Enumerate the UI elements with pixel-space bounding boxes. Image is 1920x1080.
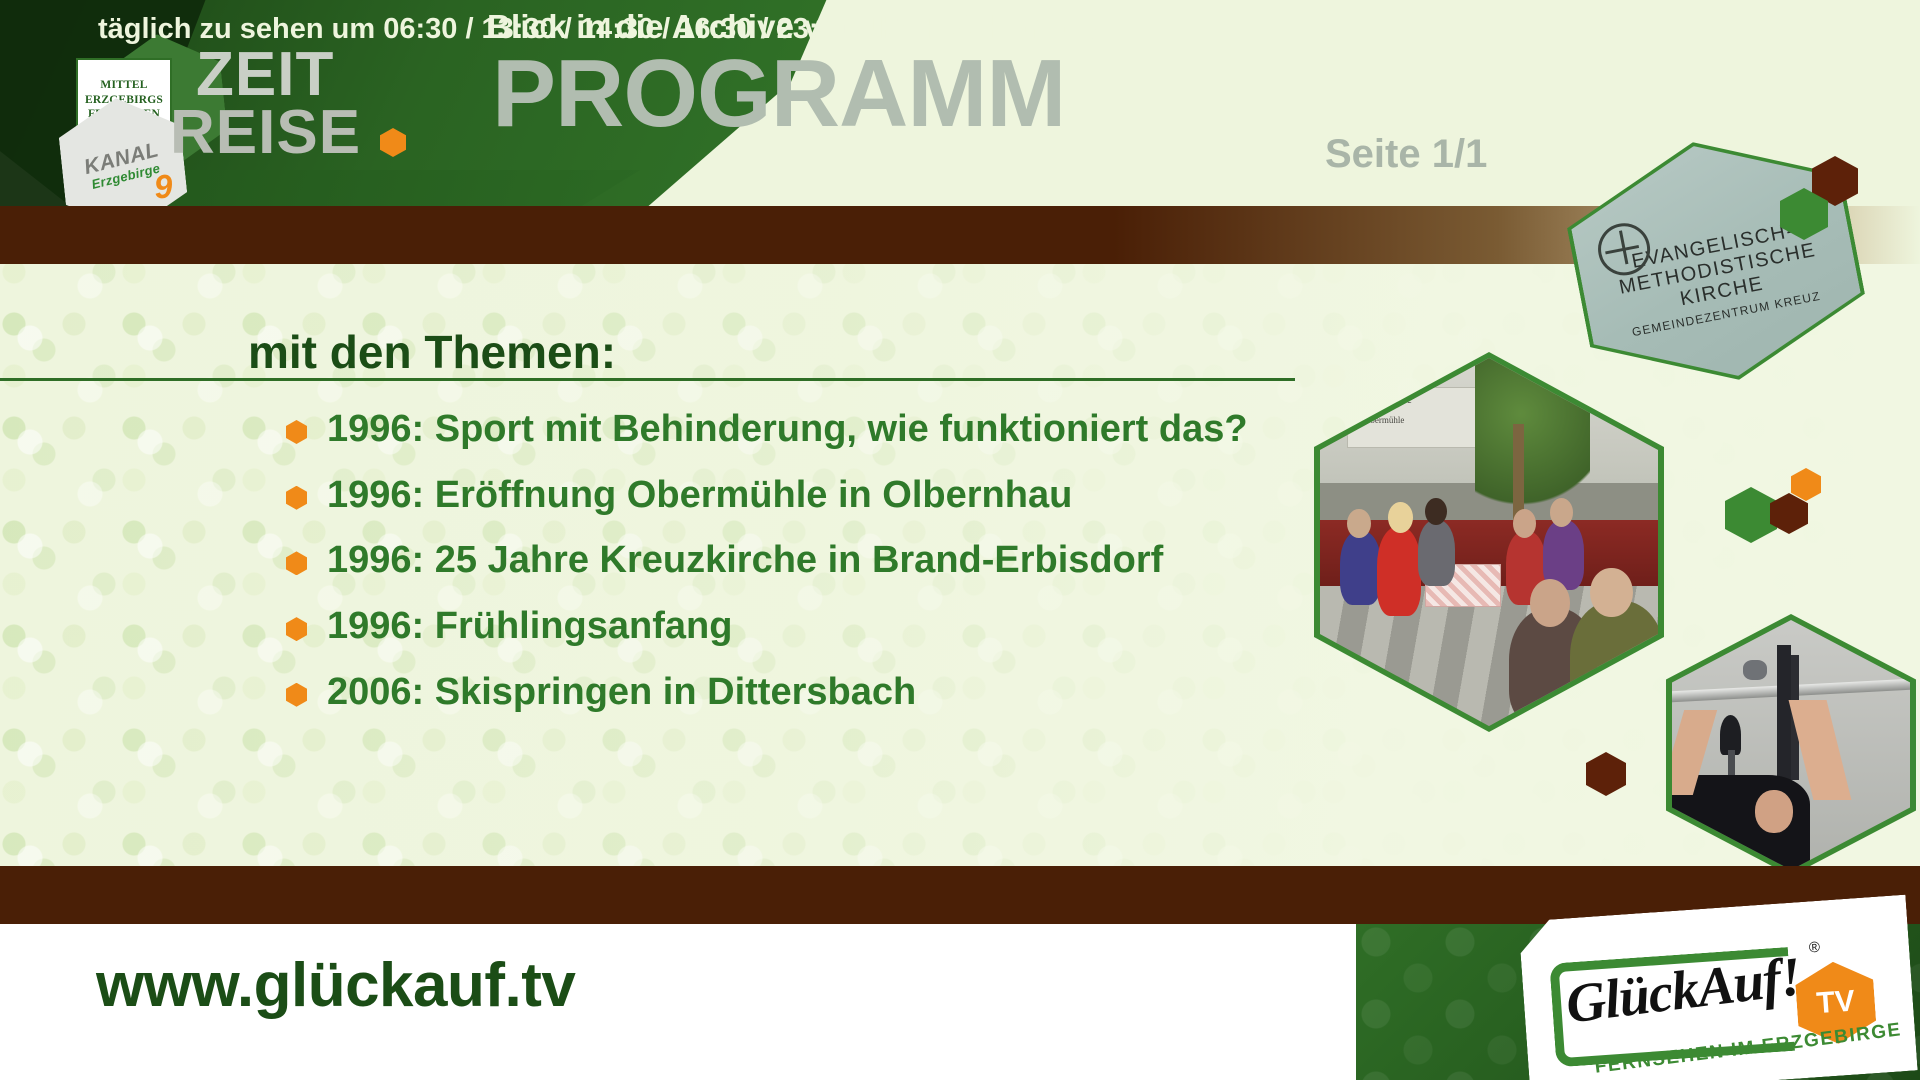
topics-heading-rule xyxy=(0,378,1295,381)
website-url[interactable]: www.glückauf.tv xyxy=(96,950,575,1021)
list-item-label: 1996: 25 Jahre Kreuzkirche in Brand-Erbi… xyxy=(327,539,1163,583)
kanal9-number: 9 xyxy=(152,167,174,206)
list-item-label: 1996: Eröffnung Obermühle in Olbernhau xyxy=(327,474,1072,518)
list-item-label: 1996: Sport mit Behinderung, wie funktio… xyxy=(327,408,1248,452)
list-item: 1996: Sport mit Behinderung, wie funktio… xyxy=(286,408,1366,452)
hexagon-bullet-icon xyxy=(286,617,307,641)
list-item-label: 1996: Frühlingsanfang xyxy=(327,605,732,649)
cafe-person xyxy=(1418,520,1455,586)
cafe-person-head xyxy=(1347,509,1371,538)
glueckauf-logo-inner: GlückAuf! ® TV FERNSEHEN IM ERZGEBIRGE xyxy=(1518,895,1917,1080)
hexagon-bullet-icon xyxy=(286,551,307,575)
hexagon-bullet-icon xyxy=(286,420,307,444)
gym-bar-knob xyxy=(1743,660,1767,680)
page-indicator: Seite 1/1 xyxy=(1325,132,1487,177)
cafe-person xyxy=(1377,527,1421,615)
broadcast-times-text: täglich zu sehen um 06:30 / 13:30 / 14:3… xyxy=(98,13,909,46)
mef-line-1: MITTEL xyxy=(100,78,147,92)
cafe-person-head xyxy=(1425,498,1447,526)
show-title-line-2: REISE xyxy=(170,104,361,161)
topics-list: 1996: Sport mit Behinderung, wie funktio… xyxy=(286,408,1366,736)
cafe-person-head xyxy=(1388,502,1413,533)
topics-heading: mit den Themen: xyxy=(248,325,616,379)
glueckauf-tv-label: TV xyxy=(1815,985,1856,1022)
page-title: PROGRAMM xyxy=(492,46,1065,142)
cafe-person xyxy=(1340,531,1381,605)
hexagon-bullet-icon xyxy=(286,683,307,707)
program-slide: MITTEL ERZGEBIRGS FERNSEHEN KANAL Erzgeb… xyxy=(0,0,1920,1080)
registered-trademark-icon: ® xyxy=(1808,939,1820,957)
hexagon-bullet-icon xyxy=(286,486,307,510)
gym-seat xyxy=(1720,715,1741,755)
cafe-foreground-person-head xyxy=(1590,568,1632,618)
list-item: 1996: Frühlingsanfang xyxy=(286,605,1366,649)
list-item: 1996: Eröffnung Obermühle in Olbernhau xyxy=(286,474,1366,518)
gym-athlete-head xyxy=(1755,790,1793,833)
list-item: 2006: Skispringen in Dittersbach xyxy=(286,671,1366,715)
cafe-foreground-person-head xyxy=(1530,579,1571,627)
glueckauf-tv-logo: GlückAuf! ® TV FERNSEHEN IM ERZGEBIRGE xyxy=(1518,895,1917,1080)
list-item-label: 2006: Skispringen in Dittersbach xyxy=(327,671,916,715)
show-title-line-1: ZEIT xyxy=(196,46,334,103)
list-item: 1996: 25 Jahre Kreuzkirche in Brand-Erbi… xyxy=(286,539,1366,583)
